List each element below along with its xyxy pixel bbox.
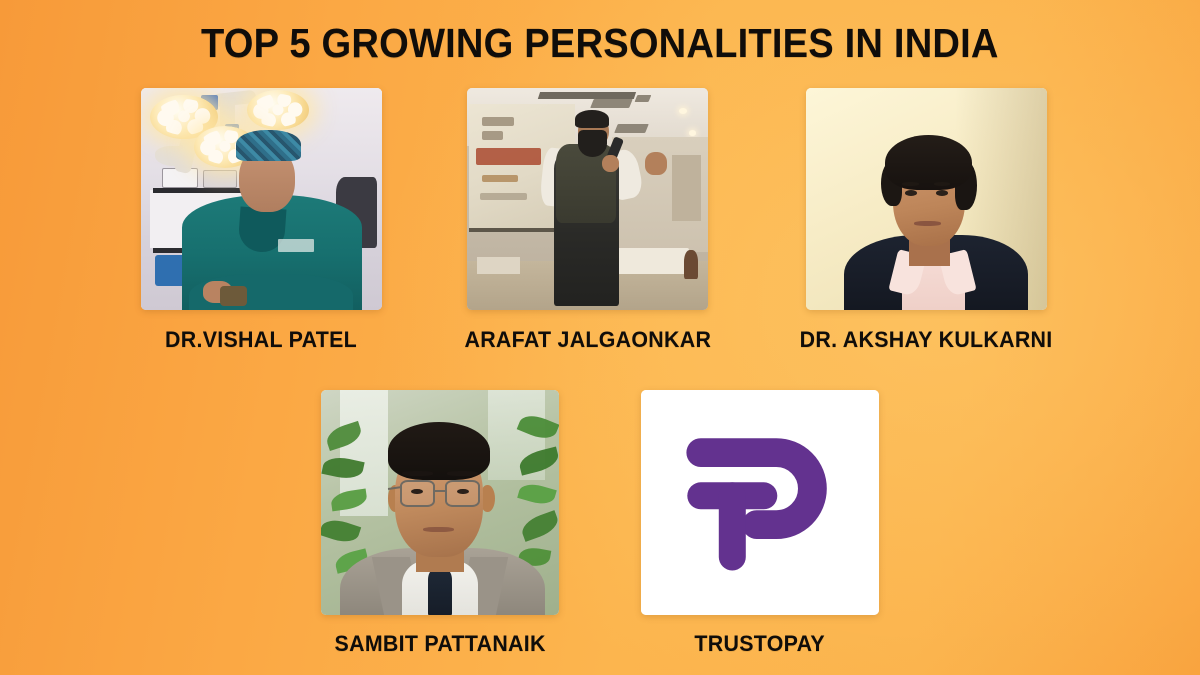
- man-with-glasses-grey-suit-portrait-photo: [321, 390, 559, 615]
- photo-frame[interactable]: [321, 390, 559, 615]
- page-header: TOP 5 GROWING PERSONALITIES IN INDIA: [0, 20, 1200, 67]
- surgical-lamp-icon: [247, 90, 310, 130]
- surgeon-in-operating-room-photo: [141, 88, 382, 310]
- man-in-dark-blazer-portrait-photo: [806, 88, 1047, 310]
- personalities-row-2: SAMBIT PATTANAIK TRUSTOPAY: [0, 390, 1200, 657]
- logo-frame[interactable]: [641, 390, 879, 615]
- photo-frame[interactable]: [467, 88, 708, 310]
- personality-card-sambit-pattanaik[interactable]: SAMBIT PATTANAIK: [321, 390, 559, 657]
- photo-frame[interactable]: [141, 88, 382, 310]
- tp-monogram-icon: [665, 413, 855, 593]
- personality-name: DR.VISHAL PATEL: [165, 327, 357, 353]
- personality-name: SAMBIT PATTANAIK: [334, 631, 545, 657]
- photo-frame[interactable]: [806, 88, 1047, 310]
- speaker-on-stage-with-microphone-photo: [467, 88, 708, 310]
- personality-card-vishal-patel[interactable]: DR.VISHAL PATEL: [141, 88, 382, 353]
- trustopay-tp-monogram-logo: [641, 390, 879, 615]
- brand-card-trustopay[interactable]: TRUSTOPAY: [641, 390, 879, 657]
- personalities-row-1: DR.VISHAL PATEL: [0, 88, 1200, 353]
- personality-card-akshay-kulkarni[interactable]: DR. AKSHAY KULKARNI: [793, 88, 1059, 353]
- personality-name: ARAFAT JALGAONKAR: [464, 327, 711, 353]
- page-title: TOP 5 GROWING PERSONALITIES IN INDIA: [201, 20, 999, 67]
- personality-name: DR. AKSHAY KULKARNI: [800, 327, 1053, 353]
- personality-card-arafat-jalgaonkar[interactable]: ARAFAT JALGAONKAR: [458, 88, 718, 353]
- brand-name: TRUSTOPAY: [695, 631, 825, 657]
